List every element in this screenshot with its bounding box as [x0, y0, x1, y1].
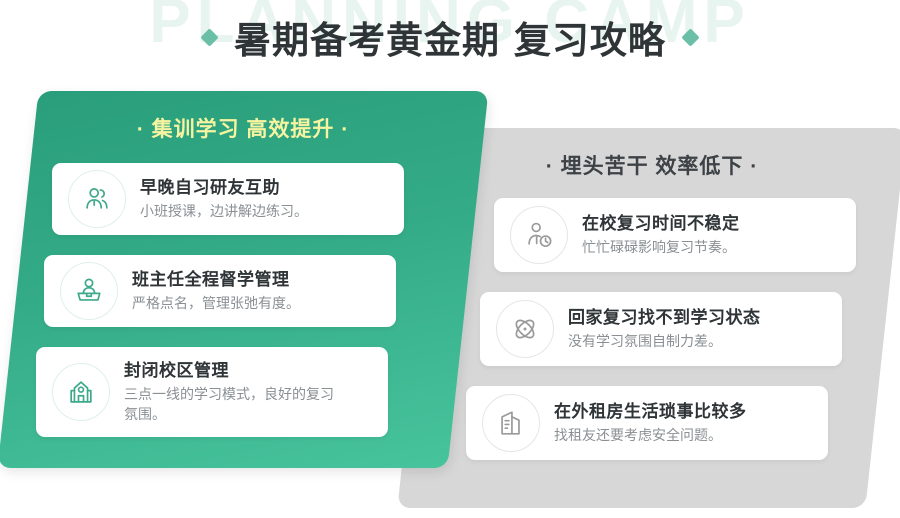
negative-card-3-subtitle: 找租友还要考虑安全问题。	[554, 426, 747, 446]
positive-card-3-subtitle: 三点一线的学习模式，良好的复习氛围。	[124, 385, 339, 425]
diamond-ornament-left-icon	[200, 28, 218, 46]
positive-card-3[interactable]: 封闭校区管理 三点一线的学习模式，良好的复习氛围。	[36, 347, 388, 437]
diamond-ornament-right-icon	[681, 28, 699, 46]
positive-panel-heading: · 集训学习 高效提升 ·	[18, 113, 468, 143]
negative-card-2-title: 回家复习找不到学习状态	[568, 307, 761, 329]
negative-card-2-subtitle: 没有学习氛围自制力差。	[568, 332, 761, 352]
positive-card-2-subtitle: 严格点名，管理张弛有度。	[132, 294, 300, 314]
page-title-row: 暑期备考黄金期 复习攻略	[0, 10, 900, 64]
negative-card-3[interactable]: 在外租房生活琐事比较多 找租友还要考虑安全问题。	[466, 386, 828, 460]
positive-card-2-text: 班主任全程督学管理 严格点名，管理张弛有度。	[132, 269, 310, 314]
negative-card-1[interactable]: 在校复习时间不稳定 忙忙碌碌影响复习节奏。	[494, 198, 856, 272]
negative-card-1-subtitle: 忙忙碌碌影响复习节奏。	[582, 238, 740, 258]
negative-card-2[interactable]: 回家复习找不到学习状态 没有学习氛围自制力差。	[480, 292, 842, 366]
person-clock-icon	[510, 206, 568, 264]
positive-card-2[interactable]: 班主任全程督学管理 严格点名，管理张弛有度。	[44, 255, 396, 327]
two-people-icon	[68, 170, 126, 228]
positive-card-3-text: 封闭校区管理 三点一线的学习模式，良好的复习氛围。	[124, 360, 349, 425]
school-building-icon	[52, 363, 110, 421]
positive-panel: · 集训学习 高效提升 · 早晚自习研友互助 小班授课，边讲解边练习。	[0, 91, 488, 468]
positive-card-1-text: 早晚自习研友互助 小班授课，边讲解边练习。	[140, 177, 318, 222]
positive-card-1-title: 早晚自习研友互助	[140, 177, 308, 199]
positive-card-3-title: 封闭校区管理	[124, 360, 339, 382]
rental-building-icon	[482, 394, 540, 452]
negative-card-1-text: 在校复习时间不稳定 忙忙碌碌影响复习节奏。	[582, 213, 750, 258]
negative-card-1-title: 在校复习时间不稳定	[582, 213, 740, 235]
panels-stage: · 埋头苦干 效率低下 · 在校复习时间不稳定 忙忙碌碌影响复习节奏。	[0, 0, 900, 518]
teacher-podium-icon	[60, 262, 118, 320]
negative-card-2-text: 回家复习找不到学习状态 没有学习氛围自制力差。	[568, 307, 771, 352]
negative-card-3-text: 在外租房生活琐事比较多 找租友还要考虑安全问题。	[554, 401, 757, 446]
positive-card-2-title: 班主任全程督学管理	[132, 269, 300, 291]
atom-orbit-icon	[496, 300, 554, 358]
negative-panel-heading: · 埋头苦干 效率低下 ·	[418, 150, 886, 180]
positive-card-1-subtitle: 小班授课，边讲解边练习。	[140, 202, 308, 222]
page-title: 暑期备考黄金期 复习攻略	[234, 10, 666, 64]
negative-card-3-title: 在外租房生活琐事比较多	[554, 401, 747, 423]
positive-card-1[interactable]: 早晚自习研友互助 小班授课，边讲解边练习。	[52, 163, 404, 235]
